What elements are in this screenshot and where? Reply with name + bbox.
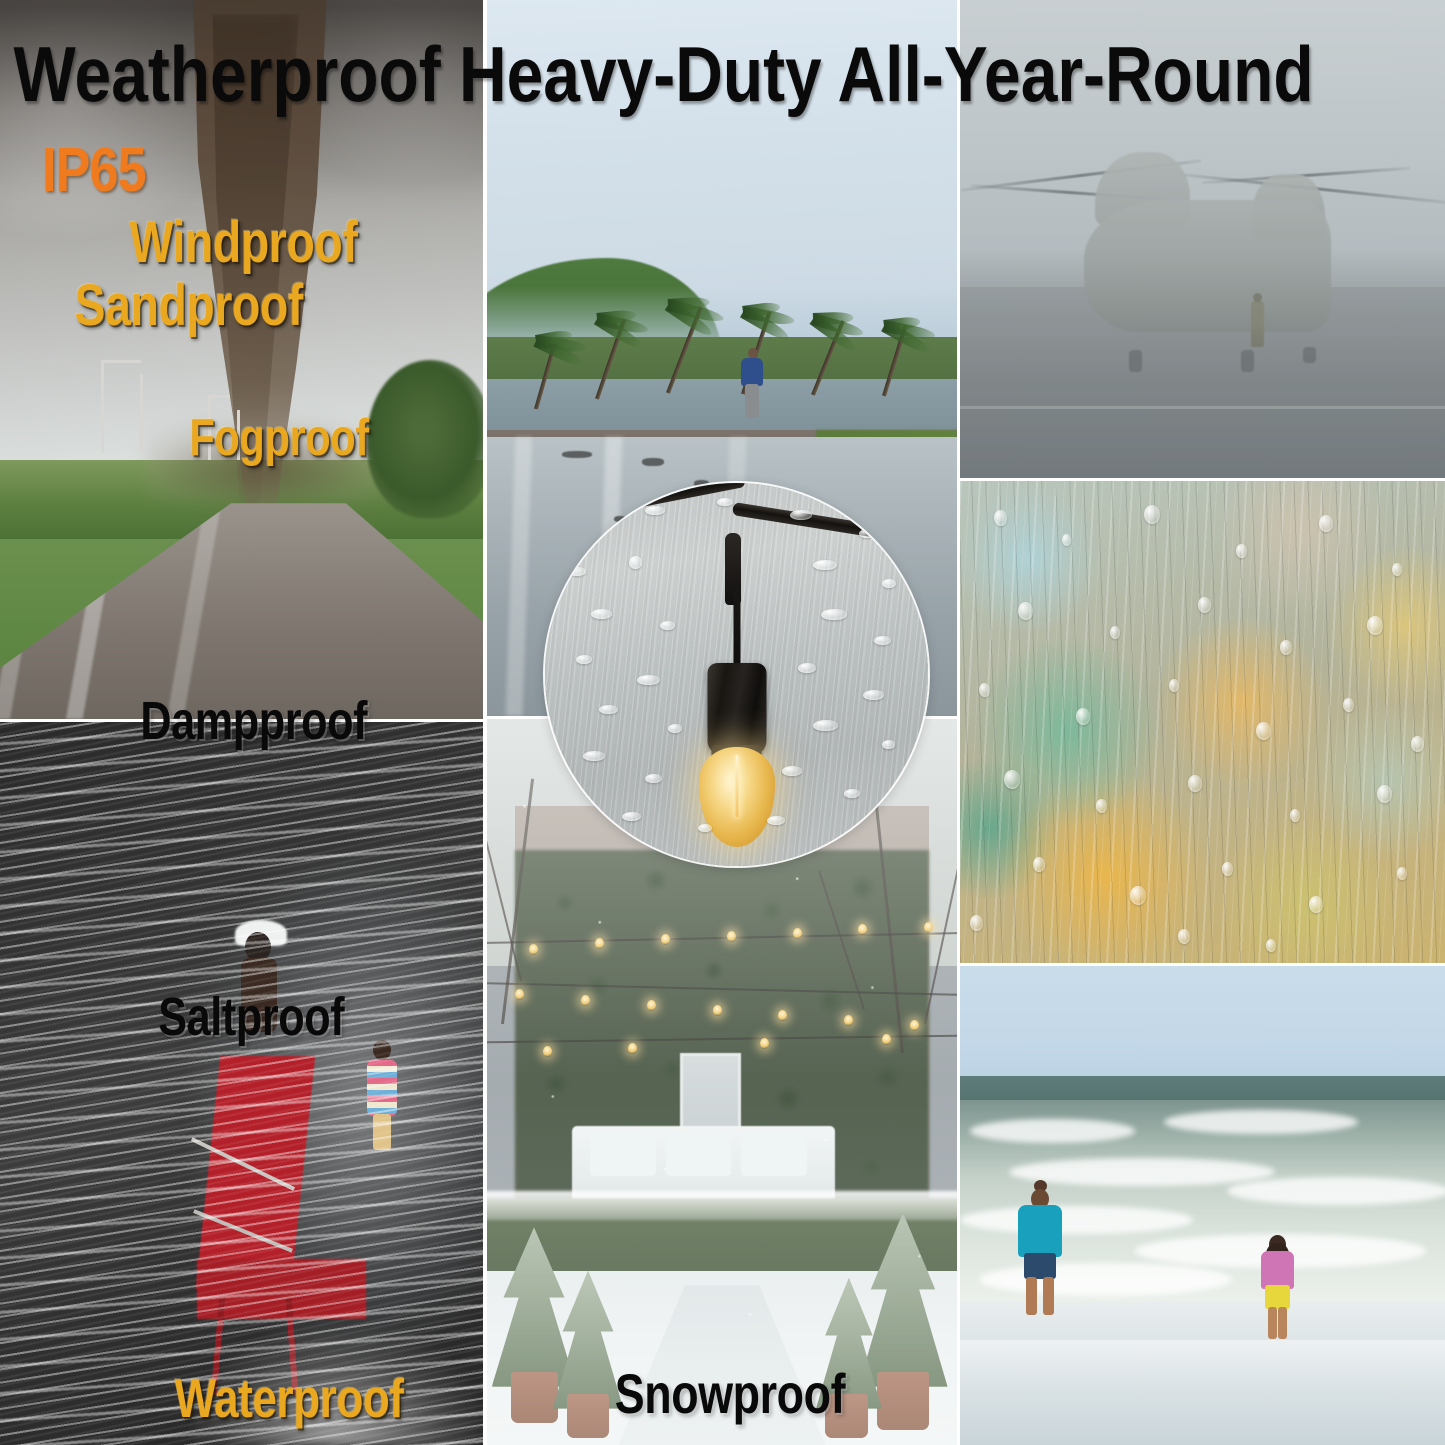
panel-sandproof xyxy=(0,0,483,719)
person-walking-icon xyxy=(741,358,763,420)
girl-in-surf-icon xyxy=(1261,1239,1294,1339)
label-sandproof: Sandproof xyxy=(75,275,303,337)
tornado-scene-icon xyxy=(0,0,483,719)
label-saltproof: Saltproof xyxy=(158,988,344,1046)
ocean-surf-scene-icon xyxy=(960,966,1445,1445)
panel-fogproof xyxy=(960,0,1445,478)
panel-dampproof xyxy=(960,481,1445,963)
chinook-helicopter-icon xyxy=(1067,139,1348,359)
ip65-rating-badge xyxy=(545,483,928,866)
panel-saltproof xyxy=(960,966,1445,1445)
label-snowproof: Snowproof xyxy=(615,1364,845,1424)
woman-on-beach-icon xyxy=(1018,1191,1062,1315)
label-windproof: Windproof xyxy=(129,212,357,274)
label-fogproof: Fogproof xyxy=(189,410,368,466)
rainy-window-scene-icon xyxy=(960,481,1445,963)
label-dampproof: Dampproof xyxy=(140,692,367,750)
helicopter-in-fog-scene-icon xyxy=(960,0,1445,478)
panel-waterproof xyxy=(0,722,483,1445)
ip65-label: IP65 xyxy=(42,139,146,203)
product-feature-collage: IP65 Sandproof Windproof Fogproof Damppr… xyxy=(0,0,1445,1445)
soldier-figure-icon xyxy=(1251,301,1264,347)
label-waterproof: Waterproof xyxy=(175,1369,404,1428)
heavy-rain-scene-icon xyxy=(0,722,483,1445)
